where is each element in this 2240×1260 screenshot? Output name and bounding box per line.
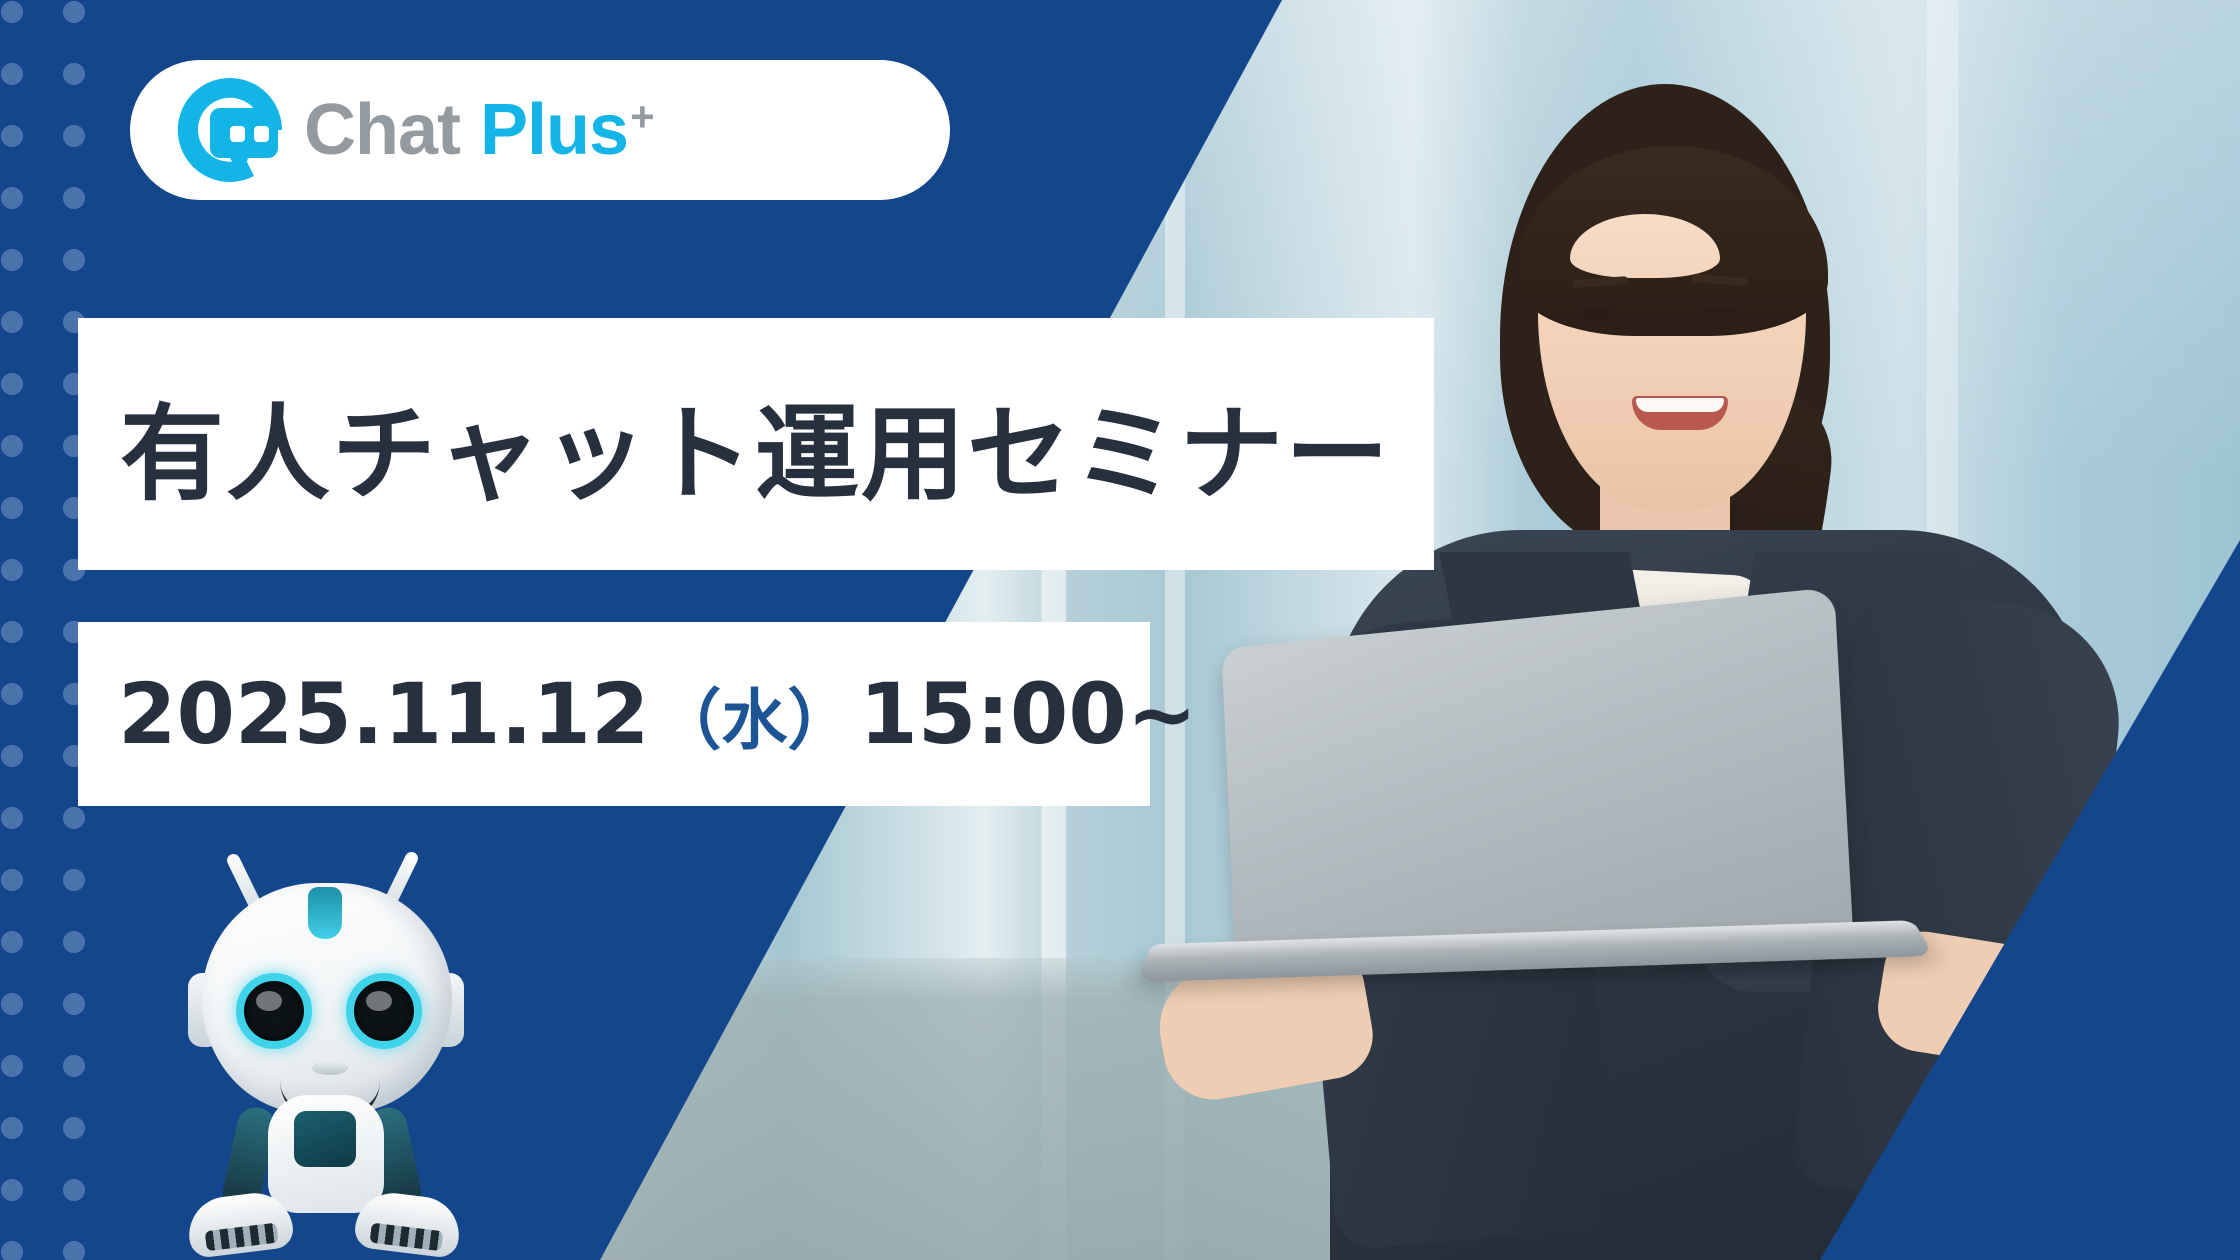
robot-nose [312, 1061, 348, 1075]
eye-right [1700, 306, 1740, 319]
laptop [1160, 620, 1950, 1050]
webinar-banner: Chat Plus + 有人チャット運用セミナー 2025.11.12（水）15… [0, 0, 2240, 1260]
chatplus-logo[interactable]: Chat Plus + [130, 60, 950, 200]
seminar-title-band: 有人チャット運用セミナー [78, 318, 1434, 570]
laptop-screen [1221, 587, 1854, 953]
robot-chest-core [294, 1111, 356, 1167]
smiling-mouth [1632, 396, 1728, 430]
seminar-date: 2025.11.12 [118, 665, 649, 763]
seminar-date-band: 2025.11.12（水）15:00~ [78, 622, 1150, 806]
seminar-time: 15:00~ [859, 665, 1197, 763]
logo-word-chat: Chat [304, 94, 460, 166]
chatplus-robot-mascot [160, 845, 490, 1260]
eye-left [1578, 308, 1618, 321]
logo-word-plus: Plus [480, 94, 628, 166]
seminar-datetime: 2025.11.12（水）15:00~ [78, 665, 1197, 763]
seminar-day-of-week: （水） [655, 682, 853, 759]
robot-head-crest [308, 887, 342, 939]
chatplus-speech-bubble-icon [174, 74, 286, 186]
robot-eye-right [346, 973, 422, 1049]
seminar-title: 有人チャット運用セミナー [78, 369, 1391, 520]
logo-superscript-plus: + [630, 96, 654, 138]
chatplus-wordmark: Chat Plus + [304, 94, 654, 166]
robot-eye-left [236, 973, 312, 1049]
